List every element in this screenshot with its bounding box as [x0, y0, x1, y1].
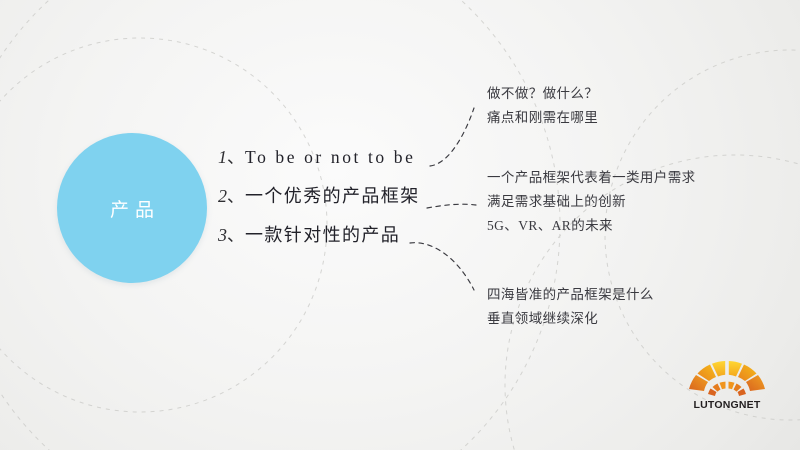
logo-wordmark: LUTONGNET: [684, 399, 770, 411]
agenda-item-number: 1: [218, 147, 227, 168]
note-line: 垂直领域继续深化: [487, 307, 654, 331]
agenda-item-3: 3 、 一款针对性的产品: [218, 221, 468, 260]
note-block-2: 一个产品框架代表着一类用户需求 满足需求基础上的创新 5G、VR、AR的未来: [487, 166, 696, 238]
slide-canvas: 产品 1 、 To be or not to be 2 、 一个优秀的产品框架 …: [0, 0, 800, 450]
note-block-1: 做不做？做什么？ 痛点和刚需在哪里: [487, 82, 598, 130]
note-line: 5G、VR、AR的未来: [487, 214, 696, 238]
note-line: 做不做？做什么？: [487, 82, 598, 106]
note-line: 四海皆准的产品框架是什么: [487, 283, 654, 307]
note-line: 一个产品框架代表着一类用户需求: [487, 166, 696, 190]
note-line: 满足需求基础上的创新: [487, 190, 696, 214]
agenda-item-2: 2 、 一个优秀的产品框架: [218, 182, 468, 221]
agenda-list: 1 、 To be or not to be 2 、 一个优秀的产品框架 3 、…: [218, 143, 468, 260]
agenda-item-label: To be or not to be: [245, 147, 415, 168]
agenda-item-1: 1 、 To be or not to be: [218, 143, 468, 182]
agenda-item-separator: 、: [227, 182, 244, 207]
fan-shell-icon: [684, 358, 770, 400]
note-block-3: 四海皆准的产品框架是什么 垂直领域继续深化: [487, 283, 654, 331]
agenda-item-number: 3: [218, 225, 227, 246]
agenda-item-number: 2: [218, 186, 227, 207]
agenda-item-separator: 、: [227, 221, 244, 246]
topic-circle: 产品: [57, 133, 207, 283]
topic-circle-label: 产品: [104, 195, 160, 222]
agenda-item-label: 一个优秀的产品框架: [245, 182, 420, 208]
note-line: 痛点和刚需在哪里: [487, 106, 598, 130]
agenda-item-label: 一款针对性的产品: [245, 221, 400, 247]
agenda-item-separator: 、: [227, 143, 244, 168]
brand-logo: LUTONGNET: [684, 358, 770, 416]
